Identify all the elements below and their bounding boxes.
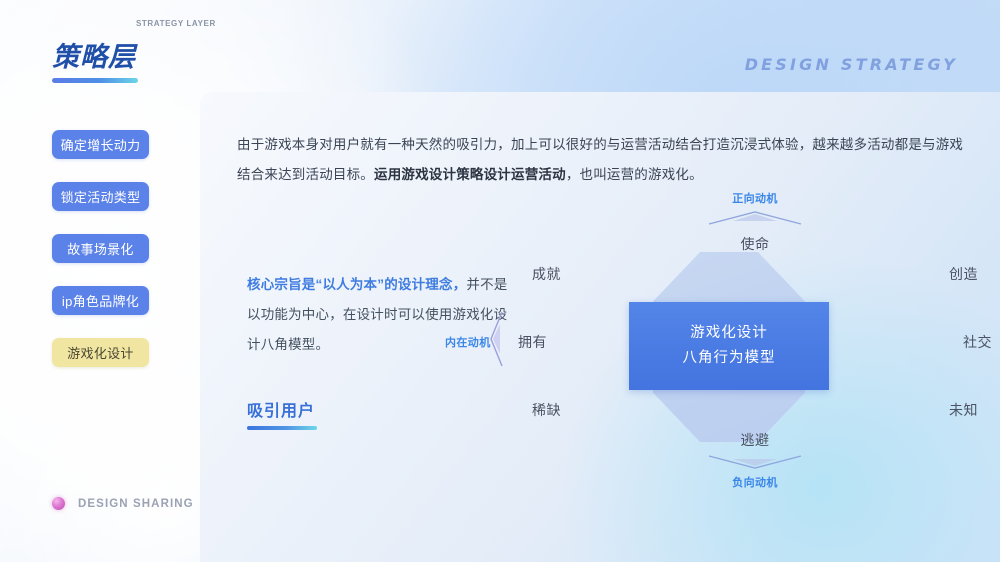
brand-underline: [52, 78, 138, 83]
sidebar-item-label: 锁定活动类型: [61, 187, 141, 206]
brand-subtitle-en: STRATEGY LAYER: [136, 19, 216, 28]
diagram-label-mission: 使命: [741, 234, 770, 254]
intro-line-1: 由于游戏本身对用户就有一种天然的吸引力，加上可以很好的与运营活动结合打造沉浸式体…: [237, 137, 908, 152]
sidebar-item-growth[interactable]: 确定增长动力: [52, 130, 149, 159]
sidebar-item-label: 游戏化设计: [67, 343, 134, 362]
content-panel: 由于游戏本身对用户就有一种天然的吸引力，加上可以很好的与运营活动结合打造沉浸式体…: [200, 92, 1000, 562]
diagram-label-unknown: 未知: [949, 400, 978, 420]
subheading-label: 吸引用户: [247, 397, 317, 421]
brand-logo: 策略层: [52, 44, 138, 83]
center-title-line-1: 游戏化设计: [690, 321, 768, 346]
sidebar-nav: 确定增长动力 锁定活动类型 故事场景化 ip角色品牌化 游戏化设计: [0, 130, 200, 390]
diagram-label-ownership: 拥有: [518, 332, 547, 352]
intro-line-2-tail: ，也叫运营的游戏化。: [566, 167, 703, 182]
section-subheading: 吸引用户: [247, 397, 317, 430]
intro-paragraph: 由于游戏本身对用户就有一种天然的吸引力，加上可以很好的与运营活动结合打造沉浸式体…: [237, 130, 967, 190]
diagram-center-box: 游戏化设计 八角行为模型: [629, 302, 829, 390]
sidebar-item-gamification[interactable]: 游戏化设计: [52, 338, 149, 367]
brand-title-cn: 策略层: [52, 44, 138, 71]
sidebar-item-label: ip角色品牌化: [62, 291, 139, 310]
intro-line-2-bold: 运用游戏设计策略设计运营活动: [374, 167, 566, 182]
diagram-label-social: 社交: [963, 332, 992, 352]
sidebar-item-label: 故事场景化: [67, 239, 134, 258]
motivation-label-negative: 负向动机: [732, 474, 778, 490]
sphere-icon: [52, 497, 65, 510]
header-right-title: DESIGN STRATEGY: [745, 55, 958, 74]
motivation-label-positive: 正向动机: [732, 190, 778, 206]
center-title-line-2: 八角行为模型: [683, 346, 776, 371]
sidebar-item-activity-type[interactable]: 锁定活动类型: [52, 182, 149, 211]
blurb-highlight: 核心宗旨是“以人为本”的设计理念，: [247, 277, 466, 292]
octagon-behavior-model-diagram: 游戏化设计 八角行为模型 使命 成就 创造 拥有 社交 稀缺 未知 逃避 正向动…: [540, 182, 970, 512]
chevron-up-icon: [707, 210, 803, 226]
diagram-label-achievement: 成就: [532, 264, 561, 284]
sidebar-item-label: 确定增长动力: [61, 135, 141, 154]
sidebar-item-story-scene[interactable]: 故事场景化: [52, 234, 149, 263]
page-header: 策略层 STRATEGY LAYER DESIGN STRATEGY: [0, 0, 1000, 92]
chevron-down-icon: [707, 454, 803, 470]
subheading-underline: [247, 426, 317, 430]
diagram-label-scarcity: 稀缺: [532, 400, 561, 420]
sidebar-item-ip-branding[interactable]: ip角色品牌化: [52, 286, 149, 315]
motivation-label-internal: 内在动机: [445, 334, 491, 350]
footer-label: DESIGN SHARING: [78, 498, 194, 510]
footer-branding: DESIGN SHARING: [52, 497, 194, 510]
diagram-label-creativity: 创造: [949, 264, 978, 284]
diagram-label-avoidance: 逃避: [741, 430, 770, 450]
chevron-left-icon: [488, 310, 504, 368]
